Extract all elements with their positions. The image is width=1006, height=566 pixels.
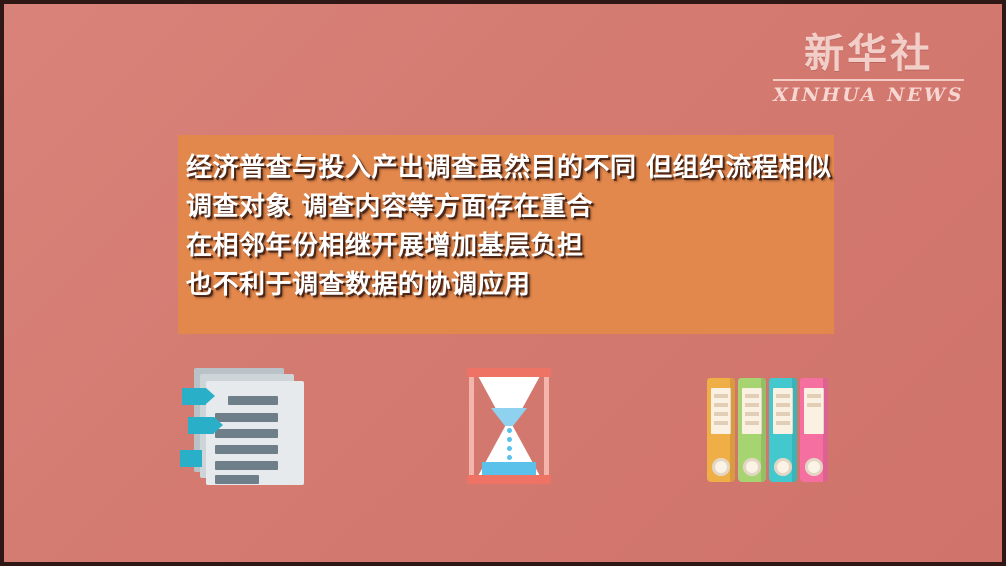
binder-shadow xyxy=(823,378,828,482)
documents-stack-icon xyxy=(180,364,310,494)
document-bookmark-tab xyxy=(180,450,202,467)
binder-label xyxy=(711,388,731,434)
hourglass-sand-drop xyxy=(507,446,512,451)
hourglass-sand-bottom xyxy=(482,462,536,476)
binder-teal xyxy=(769,378,797,482)
binder-shadow xyxy=(730,378,735,482)
caption-panel: 经济普查与投入产出调查虽然目的不同 但组织流程相似 调查对象 调查内容等方面存在… xyxy=(178,135,834,334)
hourglass-cap-top xyxy=(467,368,551,377)
xinhua-news-logo: 新华社 XINHUA NEWS xyxy=(773,32,964,106)
binder-label xyxy=(804,388,824,434)
hourglass-sand-top xyxy=(491,408,527,426)
hourglass-sand-drop xyxy=(507,428,512,433)
document-bookmark-tab xyxy=(188,417,214,434)
binder-green xyxy=(738,378,766,482)
logo-chinese-text: 新华社 xyxy=(773,32,964,76)
logo-english-text: XINHUA NEWS xyxy=(773,84,964,106)
document-bookmark-tab xyxy=(182,388,206,405)
document-text-line xyxy=(215,429,278,438)
hourglass-cap-bottom xyxy=(467,475,551,484)
hourglass-icon xyxy=(467,364,551,488)
caption-line-1: 经济普查与投入产出调查虽然目的不同 但组织流程相似 xyxy=(186,149,816,188)
hourglass-sand-drop xyxy=(507,437,512,442)
document-text-line xyxy=(215,461,278,470)
binder-label xyxy=(742,388,762,434)
caption-line-3: 在相邻年份相继开展增加基层负担 xyxy=(186,227,816,266)
binder-ring-hole xyxy=(743,458,761,476)
binder-label xyxy=(773,388,793,434)
logo-divider-rule xyxy=(773,79,964,81)
binders-icon xyxy=(707,364,827,488)
binder-pink xyxy=(800,378,828,482)
binder-ring-hole xyxy=(712,458,730,476)
document-text-line xyxy=(215,413,278,422)
document-text-line xyxy=(215,475,259,484)
document-sheet-front xyxy=(206,381,304,485)
binder-ring-hole xyxy=(805,458,823,476)
caption-line-4: 也不利于调查数据的协调应用 xyxy=(186,266,816,305)
hourglass-sand-drop xyxy=(507,455,512,460)
binder-ring-hole xyxy=(774,458,792,476)
icon-row xyxy=(4,364,1006,504)
binder-shadow xyxy=(761,378,766,482)
slide-canvas: 新华社 XINHUA NEWS 经济普查与投入产出调查虽然目的不同 但组织流程相… xyxy=(0,0,1006,566)
hourglass-post-left xyxy=(469,372,474,478)
hourglass-post-right xyxy=(544,372,549,478)
caption-line-2: 调查对象 调查内容等方面存在重合 xyxy=(186,188,816,227)
binder-orange xyxy=(707,378,735,482)
document-text-line xyxy=(215,445,278,454)
document-text-line xyxy=(228,396,278,405)
binder-shadow xyxy=(792,378,797,482)
